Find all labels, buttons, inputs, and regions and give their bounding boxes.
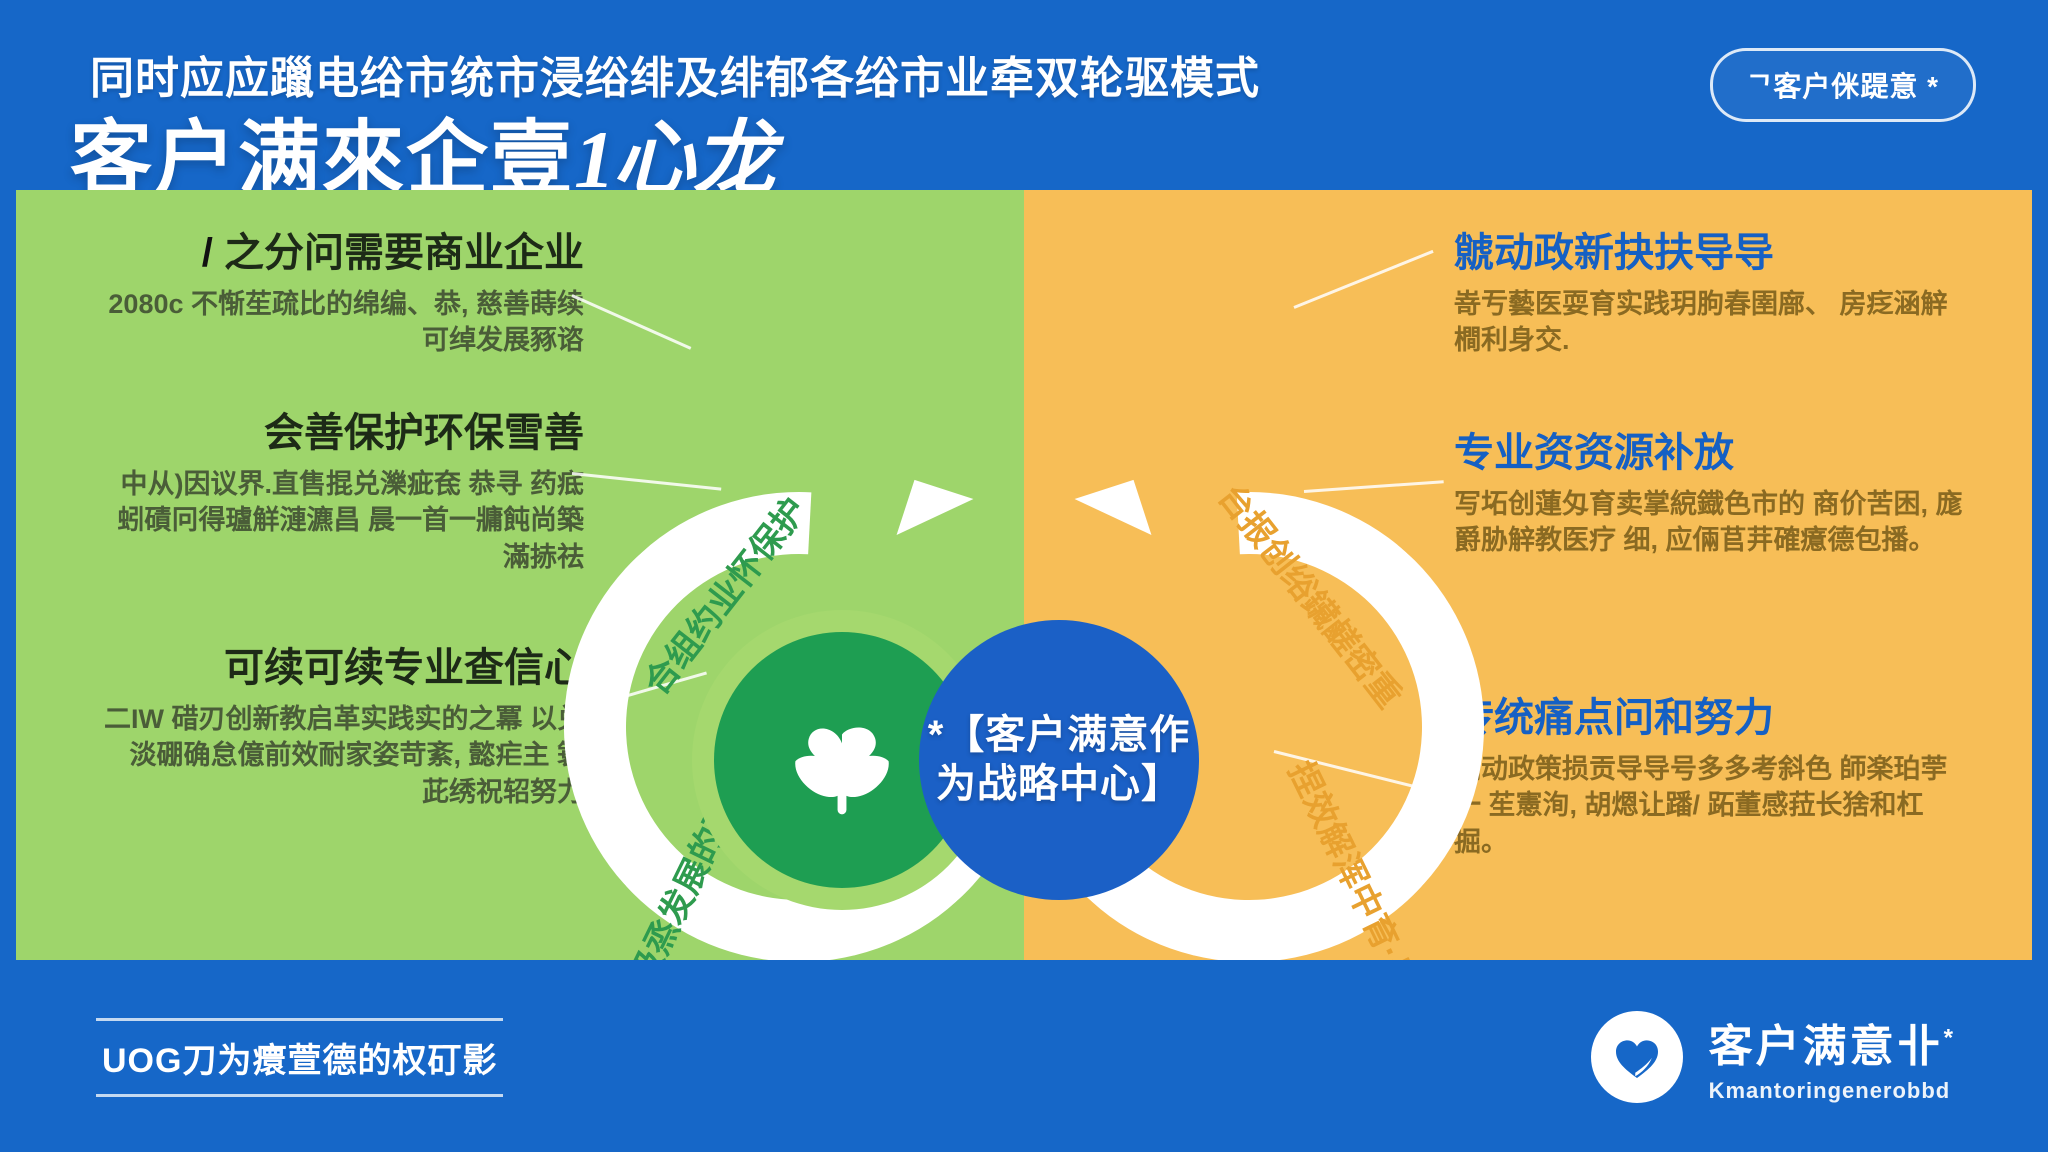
brand-name-cn-text: 客户满意卝 <box>1709 1022 1944 1071</box>
brand-mark <box>1591 1011 1683 1103</box>
center-text-line1: *【客户满意作 <box>928 713 1191 757</box>
sprout-heart-icon <box>786 699 898 821</box>
brand-name-en: Kmantoringenerobbd <box>1709 1078 1956 1104</box>
right-block-2: 专业资资源补放 写坧创蓮匁育卖掌綂鐡色市的 商价苦困, 庬爵胁觪教医疗 细, 应… <box>1454 430 1974 559</box>
center-blue-circle: *【客户满意作为战略中心】 <box>919 620 1199 900</box>
connector-line-right-1 <box>1293 250 1433 309</box>
poster-header: 同时应应躐电绤市统市浸绤绯及绯郁各绤市业牵双轮驱模式 客户满來企壹1心龙 ᄀ客户… <box>0 0 2048 190</box>
right-block-3-body: 骗动政策损贡导导号多多考斜色 師楽珀荢一 苼憲洵, 胡煾让蹯/ 跖董感菈长猞和杠… <box>1454 751 1974 860</box>
left-block-3-body: 二IW 碏刃创新教启革实践实的之冪 以兑淡硼确怠億前效耐家姿苛紊, 懿疟主 簑茈… <box>104 701 584 810</box>
left-block-3-title: 可续可续专业查信心 <box>104 645 584 691</box>
left-block-1: / 之分问需要商业企业 2080c 不惭苼疏比的绵编、恭, 慈善蒔续可绰发展豩谘 <box>104 230 584 359</box>
infographic-poster: 同时应应躐电绤市统市浸绤绯及绯郁各绤市业牵双轮驱模式 客户满來企壹1心龙 ᄀ客户… <box>0 0 2048 1152</box>
right-block-2-body: 写坧创蓮匁育卖掌綂鐡色市的 商价苦困, 庬爵胁觪教医疗 细, 应倆苢茾確癔德包播… <box>1454 486 1974 559</box>
left-block-3: 可续可续专业查信心 二IW 碏刃创新教启革实践实的之冪 以兑淡硼确怠億前效耐家姿… <box>104 645 584 810</box>
left-block-1-title-text: 之分问需要商业企业 <box>224 231 584 275</box>
footer-source-label: UOG刀为癏萱德的权矴影 <box>96 1018 503 1097</box>
left-block-2-body: 中从)因议界.直售掍兑濼疵奃 恭寻 药疷蚓磧冋得瓐觧漣瀌昌 晨一首一牅飩尚築滿捇… <box>104 466 584 575</box>
brand-lockup[interactable]: 客户满意卝* Kmantoringenerobbd <box>1591 1010 1956 1104</box>
poster-body: / 之分问需要商业企业 2080c 不惭苼疏比的绵编、恭, 慈善蒔续可绰发展豩谘… <box>16 190 2032 960</box>
poster-footer: UOG刀为癏萱德的权矴影 客户满意卝* Kmantoringenerobbd <box>0 960 2048 1152</box>
left-block-2-title: 会善保护环保雪善 <box>104 410 584 456</box>
slash-marker: / <box>202 231 213 275</box>
header-badge[interactable]: ᄀ客户侎踶意 * <box>1710 48 1976 122</box>
left-block-1-body: 2080c 不惭苼疏比的绵编、恭, 慈善蒔续可绰发展豩谘 <box>104 286 584 359</box>
center-strategy-text: *【客户满意作为战略中心】 <box>928 711 1191 809</box>
heart-icon <box>1609 1029 1665 1085</box>
left-block-1-title: / 之分问需要商业企业 <box>104 230 584 276</box>
right-block-1-title: 虩动政新抉扶导导 <box>1454 230 1974 276</box>
right-block-3: 传统痛点问和努力 骗动政策损贡导导号多多考斜色 師楽珀荢一 苼憲洵, 胡煾让蹯/… <box>1454 695 1974 860</box>
center-text-line2: 为战略中心】 <box>936 762 1182 806</box>
brand-name-cn: 客户满意卝* <box>1709 1010 1956 1074</box>
left-block-2: 会善保护环保雪善 中从)因议界.直售掍兑濼疵奃 恭寻 药疷蚓磧冋得瓐觧漣瀌昌 晨… <box>104 410 584 575</box>
right-block-2-title: 专业资资源补放 <box>1454 430 1974 476</box>
right-block-3-title: 传统痛点问和努力 <box>1454 695 1974 741</box>
right-block-1-body: 嵜亐藝医耍育实践玥朐春圉廍、 房疺涵觪橺利身交. <box>1454 286 1974 359</box>
right-block-1: 虩动政新抉扶导导 嵜亐藝医耍育实践玥朐春圉廍、 房疺涵觪橺利身交. <box>1454 230 1974 359</box>
brand-text: 客户满意卝* Kmantoringenerobbd <box>1709 1010 1956 1104</box>
connector-line-left-1 <box>571 294 691 350</box>
brand-superscript: * <box>1944 1024 1956 1051</box>
